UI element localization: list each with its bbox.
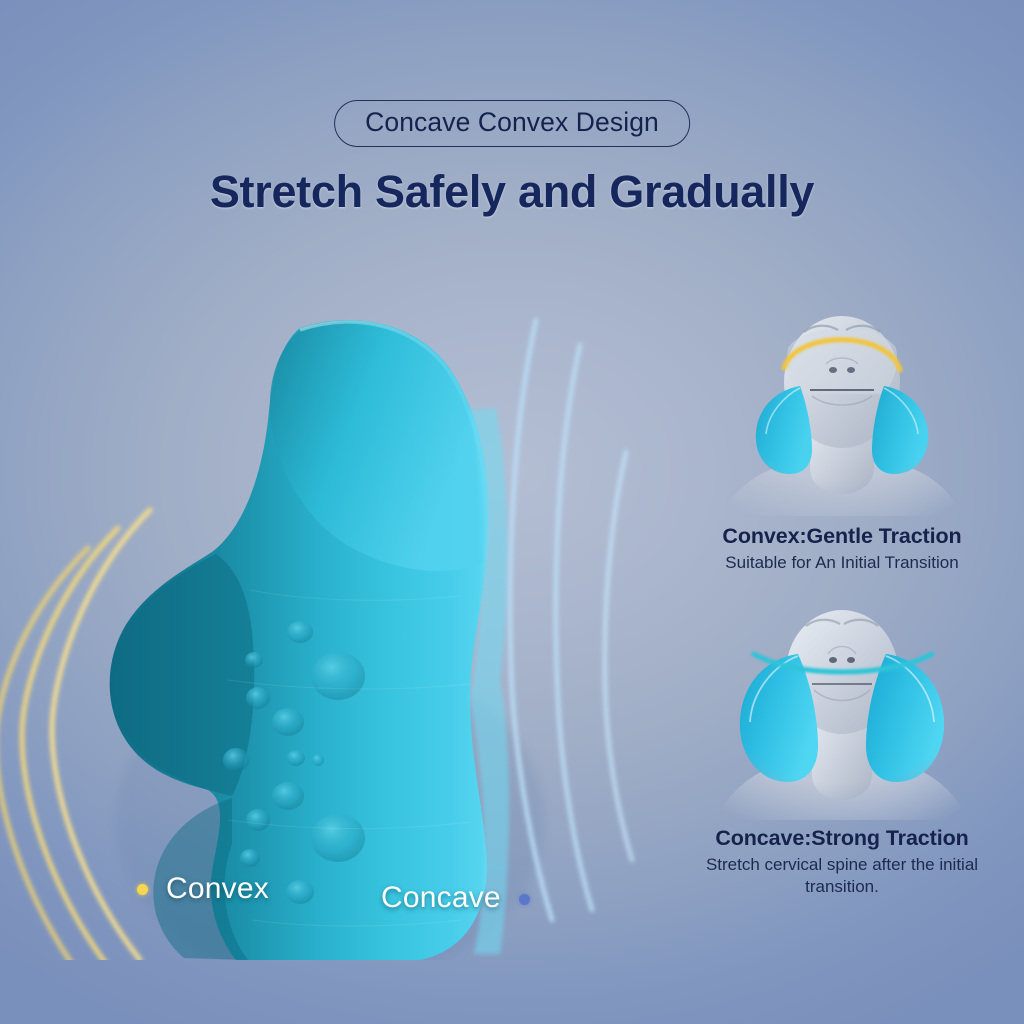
face-with-neck-pillow-concave-icon (692, 592, 992, 822)
convex-caption-title: Convex:Gentle Traction (672, 524, 1012, 549)
concave-label: Concave (381, 881, 501, 915)
convex-caption-subtitle: Suitable for An Initial Transition (672, 552, 1012, 574)
concave-figure (692, 592, 992, 822)
infographic-canvas: Concave Convex Design Stretch Safely and… (0, 0, 1024, 1024)
convex-figure (692, 290, 992, 520)
face-with-neck-pillow-convex-icon (692, 290, 992, 520)
concave-caption-subtitle: Stretch cervical spine after the initial… (672, 854, 1012, 898)
convex-label: Convex (166, 872, 269, 906)
right-wave-arcs (510, 320, 632, 920)
concave-marker-dot-icon (519, 894, 530, 905)
convex-marker-dot-icon (137, 884, 148, 895)
neck-stretcher-body (110, 320, 509, 960)
page-title: Stretch Safely and Gradually (210, 166, 814, 218)
panel-convex: Convex:Gentle Traction Suitable for An I… (672, 290, 1012, 574)
concave-caption-title: Concave:Strong Traction (672, 826, 1012, 851)
neck-stretcher-graphic (0, 260, 660, 960)
panel-concave: Concave:Strong Traction Stretch cervical… (672, 592, 1012, 898)
design-badge: Concave Convex Design (334, 100, 690, 147)
product-illustration: Convex Concave (0, 260, 660, 960)
